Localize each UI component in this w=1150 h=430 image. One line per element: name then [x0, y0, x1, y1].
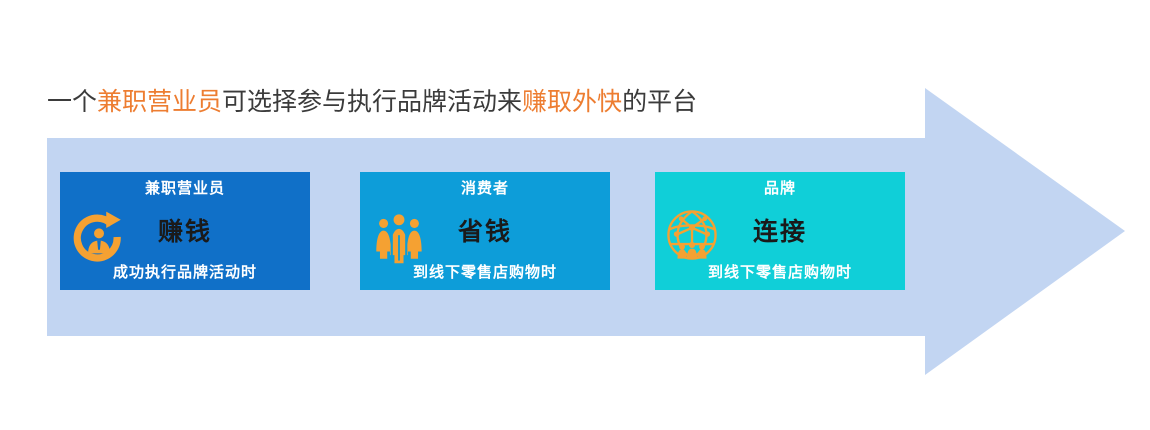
card-brand[interactable]: 品牌 — [655, 172, 905, 290]
card-main-label: 连接 — [655, 212, 905, 248]
card-header-label: 品牌 — [655, 177, 905, 198]
title-segment-3-highlight: 赚取外快 — [522, 89, 622, 116]
card-main-label: 省钱 — [360, 212, 610, 248]
card-main-label: 赚钱 — [60, 212, 310, 248]
card-part-time-clerk[interactable]: 兼职营业员 赚钱 成功执行品牌活动时 — [60, 172, 310, 290]
card-footer-label: 到线下零售店购物时 — [360, 261, 610, 282]
card-header-label: 消费者 — [360, 177, 610, 198]
card-header-label: 兼职营业员 — [60, 177, 310, 198]
title-segment-0: 一个 — [47, 89, 97, 116]
title-segment-2: 可选择参与执行品牌活动来 — [222, 89, 522, 116]
card-consumer[interactable]: 消费者 省钱 到线下零售店购物时 — [360, 172, 610, 290]
page-title: 一个兼职营业员可选择参与执行品牌活动来赚取外快的平台 — [47, 86, 697, 120]
title-segment-4: 的平台 — [622, 89, 697, 116]
card-footer-label: 到线下零售店购物时 — [655, 261, 905, 282]
card-footer-label: 成功执行品牌活动时 — [60, 261, 310, 282]
slide-canvas: 一个兼职营业员可选择参与执行品牌活动来赚取外快的平台 兼职营业员 赚钱 成功执行… — [0, 0, 1150, 430]
title-segment-1-highlight: 兼职营业员 — [97, 89, 222, 116]
